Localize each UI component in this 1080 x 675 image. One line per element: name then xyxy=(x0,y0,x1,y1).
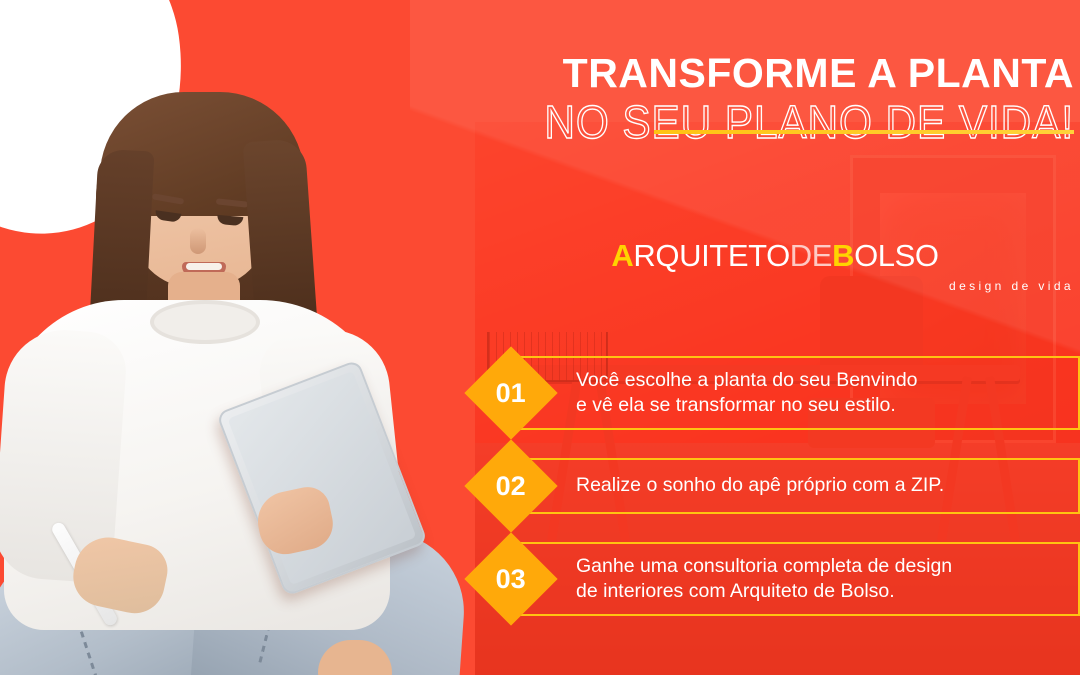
step-number: 03 xyxy=(496,563,526,594)
logo-text-de: DE xyxy=(790,238,832,273)
step-text: Ganhe uma consultoria completa de design… xyxy=(576,554,952,604)
logo-text-rquiteto: RQUITETO xyxy=(633,238,789,273)
logo-letter-b: B xyxy=(832,238,854,273)
logo-text-olso: OLSO xyxy=(854,238,939,273)
step-item: Realize o sonho do apê próprio com a ZIP… xyxy=(470,458,1080,514)
logo-wordmark: ARQUITETODEBOLSO xyxy=(470,240,1080,271)
logo-tagline: design de vida xyxy=(470,279,1080,293)
step-text: Você escolhe a planta do seu Benvindo e … xyxy=(576,368,918,418)
step-number: 01 xyxy=(496,377,526,408)
step-item: Ganhe uma consultoria completa de design… xyxy=(470,542,1080,616)
headline-line-2: NO SEU PLANO DE VIDA! xyxy=(518,99,1074,146)
step-number: 02 xyxy=(496,470,526,501)
teeth xyxy=(186,263,222,270)
step-number-badge: 02 xyxy=(464,439,557,532)
brand-logo: ARQUITETODEBOLSO design de vida xyxy=(470,240,1080,293)
nose xyxy=(190,228,206,254)
steps-list: Você escolhe a planta do seu Benvindo e … xyxy=(470,356,1080,644)
headline-underline-rule xyxy=(654,130,1074,134)
step-box: Realize o sonho do apê próprio com a ZIP… xyxy=(512,458,1080,514)
promo-banner: TRANSFORME A PLANTA NO SEU PLANO DE VIDA… xyxy=(0,0,1080,675)
content-column: TRANSFORME A PLANTA NO SEU PLANO DE VIDA… xyxy=(470,0,1080,675)
step-item: Você escolhe a planta do seu Benvindo e … xyxy=(470,356,1080,430)
headline-line-1: TRANSFORME A PLANTA xyxy=(470,52,1074,95)
step-box: Você escolhe a planta do seu Benvindo e … xyxy=(512,356,1080,430)
sweater-collar xyxy=(150,300,260,344)
step-text: Realize o sonho do apê próprio com a ZIP… xyxy=(576,473,944,498)
woman-with-tablet-image xyxy=(0,0,470,675)
step-box: Ganhe uma consultoria completa de design… xyxy=(512,542,1080,616)
logo-letter-a: A xyxy=(611,238,633,273)
